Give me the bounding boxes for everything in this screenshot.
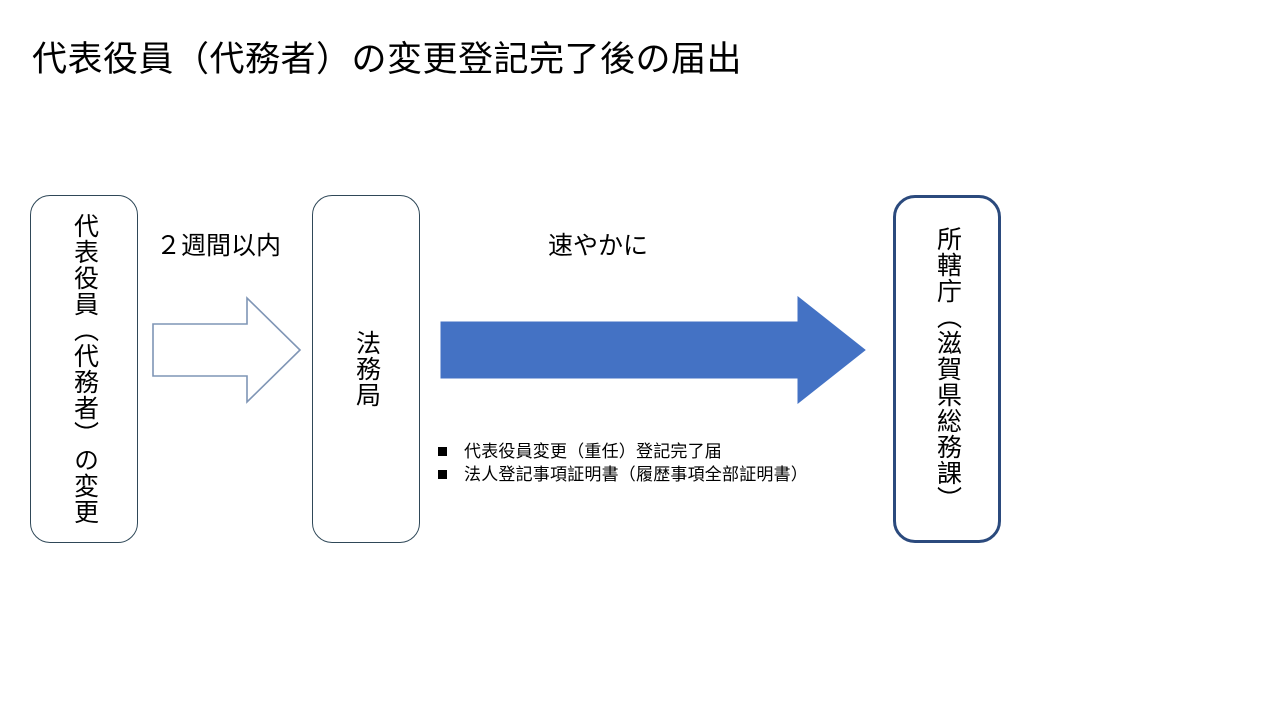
arrow-origin-to-bureau — [152, 296, 302, 404]
filled-square-bullet-icon — [438, 447, 447, 456]
process-box-origin: 代表役員（代務者）の変更 — [30, 195, 138, 543]
right-arrow-icon — [440, 296, 866, 404]
right-arrow-icon — [152, 296, 302, 404]
list-item-label: 代表役員変更（重任）登記完了届 — [464, 440, 722, 463]
process-box-legal-affairs-bureau: 法務局 — [312, 195, 420, 543]
list-item: 法人登記事項証明書（履歴事項全部証明書） — [438, 463, 908, 486]
process-box-competent-authority-label: 所轄庁（滋賀県総務課） — [934, 226, 961, 512]
page-title: 代表役員（代務者）の変更登記完了後の届出 — [32, 38, 742, 82]
list-item-label: 法人登記事項証明書（履歴事項全部証明書） — [464, 463, 808, 486]
slide-canvas: 代表役員（代務者）の変更登記完了後の届出 代表役員（代務者）の変更 ２週間以内 … — [0, 0, 1280, 720]
process-box-competent-authority: 所轄庁（滋賀県総務課） — [893, 195, 1001, 543]
filled-square-bullet-icon — [438, 470, 447, 479]
list-item: 代表役員変更（重任）登記完了届 — [438, 440, 908, 463]
process-box-legal-affairs-bureau-label: 法務局 — [353, 330, 380, 408]
required-documents-list: 代表役員変更（重任）登記完了届 法人登記事項証明書（履歴事項全部証明書） — [438, 440, 908, 486]
arrow-label-promptly: 速やかに — [548, 231, 648, 261]
arrow-label-two-weeks: ２週間以内 — [156, 231, 281, 261]
arrow-bureau-to-authority — [440, 296, 866, 404]
process-box-origin-label: 代表役員（代務者）の変更 — [71, 213, 98, 525]
